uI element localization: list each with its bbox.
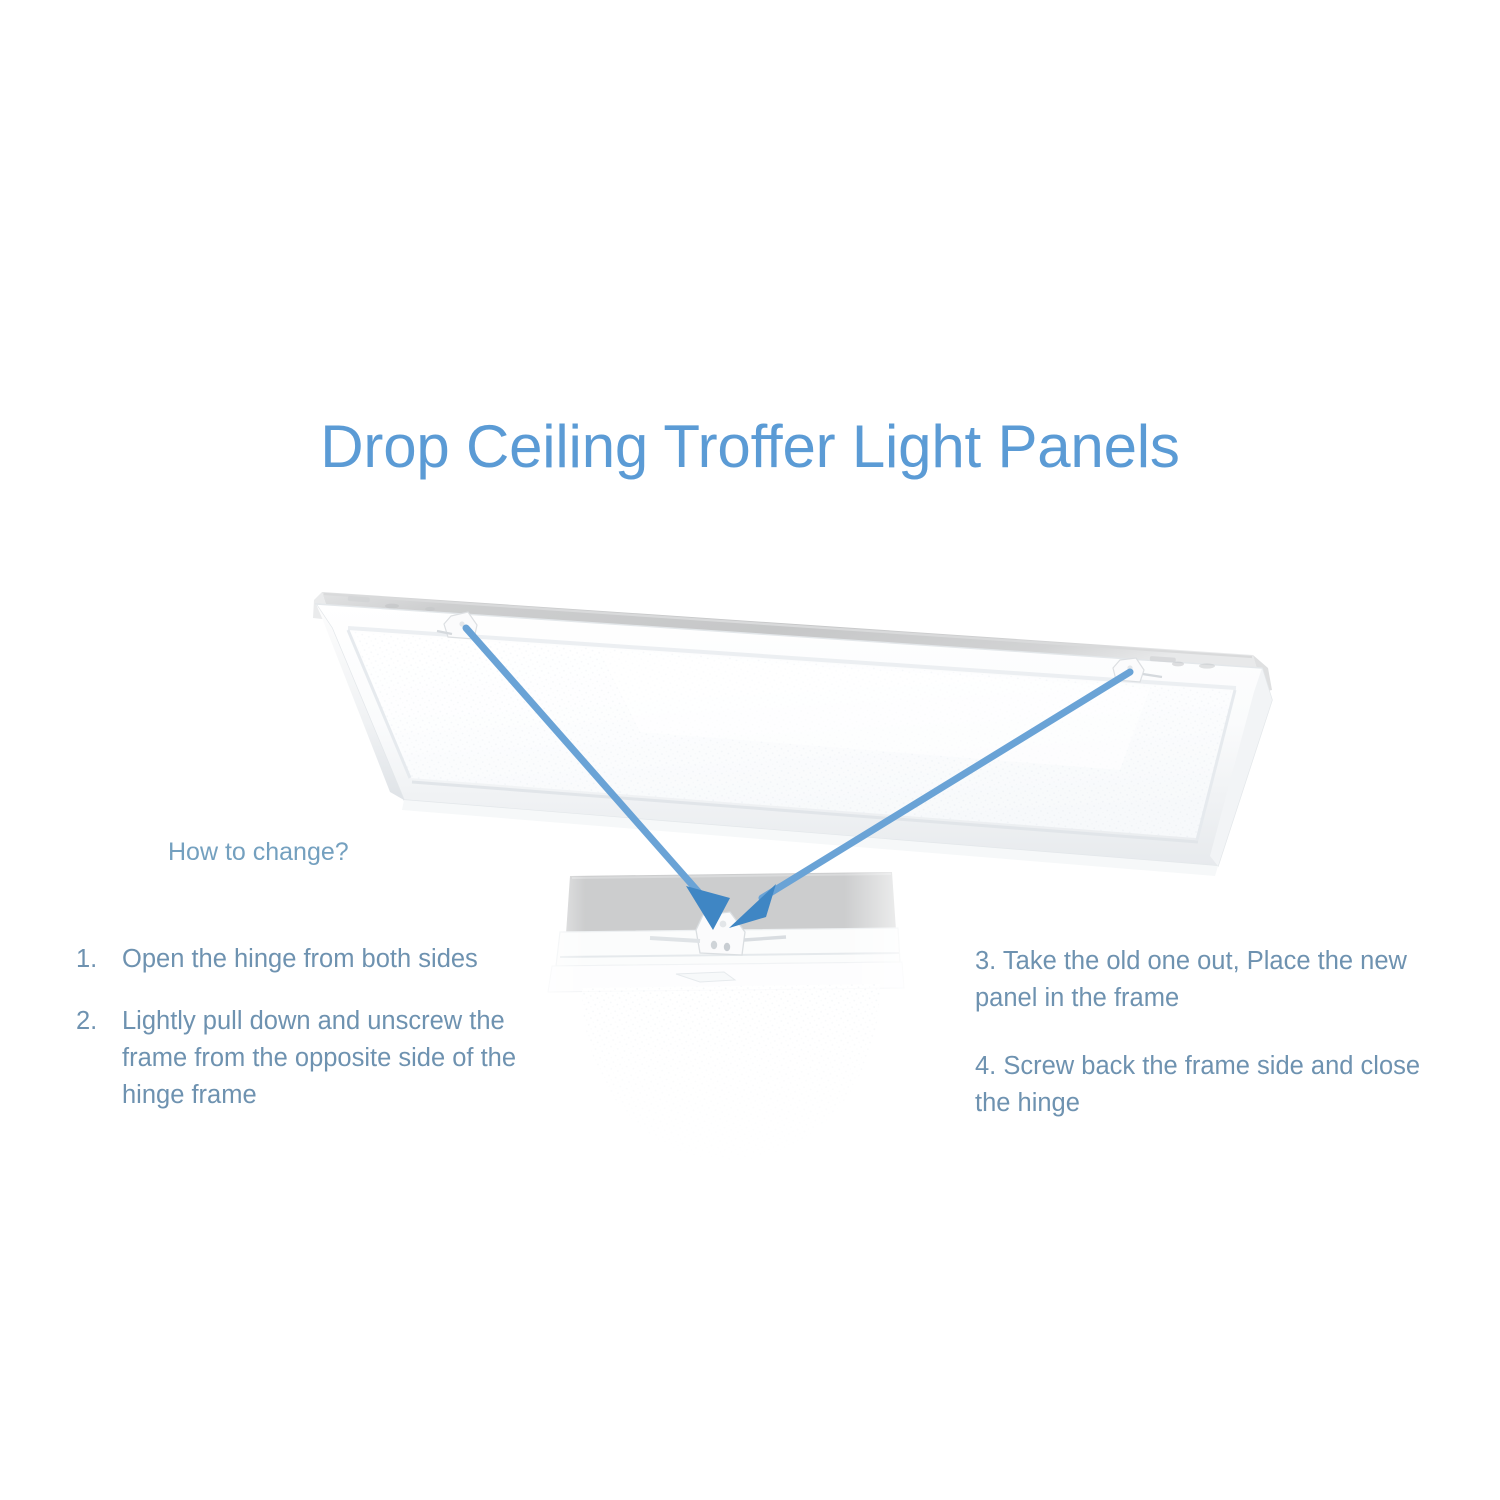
lower-hinge-clip-screw <box>720 921 727 928</box>
infographic-page: Drop Ceiling Troffer Light Panels <box>0 0 1500 1500</box>
troffer-light-panel-illustration <box>0 0 1500 1500</box>
instruction-step-2-number: 2. <box>72 1003 122 1040</box>
lower-hinge-clip-hole-a <box>711 941 717 949</box>
instruction-step-1: 1. Open the hinge from both sides <box>72 941 542 978</box>
instruction-step-1-number: 1. <box>72 941 122 978</box>
instruction-step-4-text: 4. Screw back the frame side and close t… <box>975 1048 1445 1122</box>
instruction-step-2-text: Lightly pull down and unscrew the frame … <box>122 1003 542 1114</box>
lower-diffuser-texture <box>582 984 880 1160</box>
instructions-left-column: 1. Open the hinge from both sides 2. Lig… <box>72 941 542 1114</box>
instruction-step-2: 2. Lightly pull down and unscrew the fra… <box>72 1003 542 1114</box>
instructions-right-column: 3. Take the old one out, Place the new p… <box>975 943 1445 1122</box>
lower-troffer-fixture <box>548 872 904 1160</box>
how-to-change-label: How to change? <box>168 838 349 867</box>
instruction-step-1-text: Open the hinge from both sides <box>122 941 542 978</box>
instruction-step-3-text: 3. Take the old one out, Place the new p… <box>975 943 1445 1017</box>
lower-hinge-clip-hole-b <box>724 943 730 951</box>
upper-troffer-fixture <box>313 592 1272 876</box>
